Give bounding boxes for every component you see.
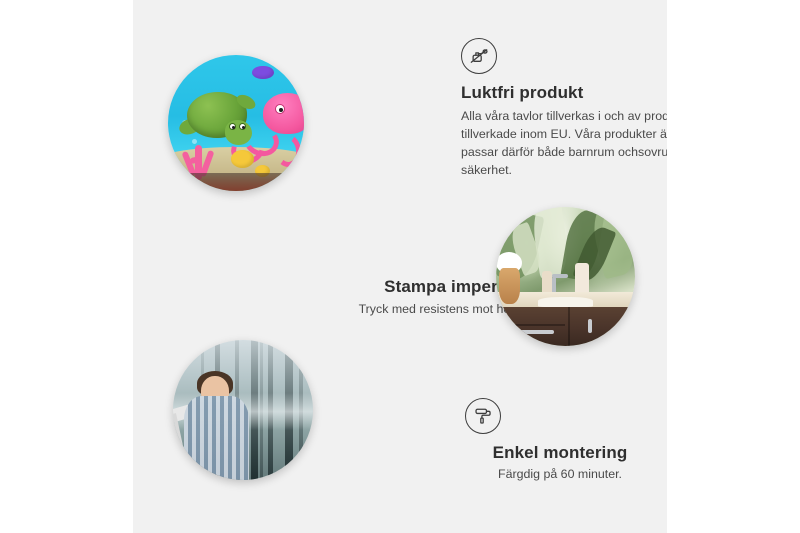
- turtle-eye: [239, 123, 246, 130]
- door-handle: [588, 319, 592, 333]
- octopus-head: [263, 93, 304, 134]
- feature-title: Enkel montering: [460, 443, 660, 463]
- yellow-fish-icon: [231, 150, 254, 168]
- sink-basin: [538, 297, 594, 307]
- paint-roller-icon: [465, 398, 501, 434]
- vase: [499, 268, 520, 304]
- woman-plaid-shirt: [184, 396, 248, 480]
- cabinet-seam: [568, 307, 570, 346]
- octopus-eye: [275, 104, 285, 114]
- vanity-cabinet: [502, 307, 635, 346]
- feature-title: Luktfri produkt: [461, 83, 667, 103]
- forest-scene: [173, 340, 313, 480]
- promo-infographic: Luktfri produkt Alla våra tavlor tillver…: [0, 0, 800, 533]
- content-panel: Luktfri produkt Alla våra tavlor tillver…: [133, 0, 667, 533]
- bathroom-tropical-wallpaper-photo: [496, 207, 635, 346]
- forest-wallpaper-installer-photo: [173, 340, 313, 480]
- underwater-cartoon-photo: [168, 55, 304, 191]
- sea-foreground-band: [168, 173, 304, 191]
- feature-block-easy-installation: Enkel montering Färgdig på 60 minuter.: [460, 398, 660, 484]
- no-fragrance-icon: [461, 38, 497, 74]
- bathroom-scene: [496, 207, 635, 346]
- purple-fish-icon: [252, 66, 274, 80]
- underwater-scene: [168, 55, 304, 191]
- feature-body: Alla våra tavlor tillverkas i och av pro…: [461, 108, 667, 180]
- feature-block-odour-free: Luktfri produkt Alla våra tavlor tillver…: [461, 38, 667, 180]
- cabinet-seam: [507, 324, 565, 326]
- feature-body: Färgdig på 60 minuter.: [460, 466, 660, 484]
- drawer-handle: [518, 330, 554, 334]
